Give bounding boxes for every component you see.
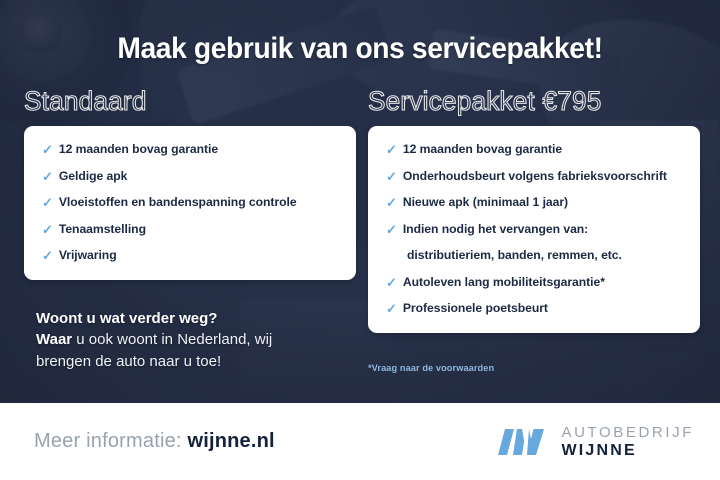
list-item: ✓ Vrijwaring	[42, 248, 338, 264]
promo-line-3: brengen de auto naar u toe!	[36, 351, 356, 372]
list-item: ✓ Onderhoudsbeurt volgens fabrieksvoorsc…	[386, 169, 682, 185]
feature-label: Onderhoudsbeurt volgens fabrieksvoorschr…	[403, 169, 667, 184]
feature-label: Professionele poetsbeurt	[403, 301, 548, 316]
list-item: ✓ Indien nodig het vervangen van:	[386, 222, 682, 238]
hero-section: Maak gebruik van ons servicepakket! Stan…	[0, 0, 720, 403]
page-title: Maak gebruik van ons servicepakket!	[22, 32, 699, 66]
logo-line-autobedrijf: AUTOBEDRIJF	[561, 425, 694, 440]
check-icon: ✓	[42, 222, 53, 238]
check-icon: ✓	[42, 142, 53, 158]
check-icon: ✓	[42, 248, 53, 264]
check-icon: ✓	[386, 142, 397, 158]
delivery-promo-text: Woont u wat verder weg? Waar u ook woont…	[36, 308, 356, 372]
list-item: ✓ 12 maanden bovag garantie	[42, 142, 338, 158]
more-info-text: Meer informatie: wijnne.nl	[34, 430, 275, 453]
list-item: ✓ Professionele poetsbeurt	[386, 301, 682, 317]
list-item: ✓ 12 maanden bovag garantie	[386, 142, 682, 158]
promo-line-2: Waar u ook woont in Nederland, wij	[36, 329, 356, 350]
promo-line-2-bold: Waar	[36, 331, 72, 348]
feature-list-standaard: ✓ 12 maanden bovag garantie ✓ Geldige ap…	[42, 142, 338, 264]
check-icon: ✓	[386, 301, 397, 317]
logo-line-wijnne: WIJNNE	[561, 443, 694, 459]
footer-bar: Meer informatie: wijnne.nl AUTOBEDRIJF W…	[0, 403, 720, 480]
column-servicepakket: Servicepakket €795 ✓ 12 maanden bovag ga…	[368, 86, 700, 333]
check-icon: ✓	[386, 169, 397, 185]
check-icon: ✓	[386, 222, 397, 238]
feature-card-standaard: ✓ 12 maanden bovag garantie ✓ Geldige ap…	[24, 126, 356, 280]
promo-line-1: Woont u wat verder weg?	[36, 308, 356, 329]
feature-label: Vloeistoffen en bandenspanning controle	[59, 195, 297, 210]
list-item: ✓ Tenaamstelling	[42, 222, 338, 238]
column-title-standaard: Standaard	[24, 86, 346, 117]
feature-label: Geldige apk	[59, 169, 128, 184]
promo-line-2-rest: u ook woont in Nederland, wij	[72, 331, 272, 348]
company-logo[interactable]: AUTOBEDRIJF WIJNNE	[498, 425, 694, 459]
footnote-conditions: *Vraag naar de voorwaarden	[368, 363, 494, 373]
list-item: ✓ Autoleven lang mobiliteitsgarantie*	[386, 275, 682, 291]
feature-label: Vrijwaring	[59, 248, 117, 263]
feature-list-servicepakket: ✓ 12 maanden bovag garantie ✓ Onderhouds…	[386, 142, 682, 317]
check-icon: ✓	[42, 195, 53, 211]
feature-card-servicepakket: ✓ 12 maanden bovag garantie ✓ Onderhouds…	[368, 126, 700, 333]
list-item: ✓ Vloeistoffen en bandenspanning control…	[42, 195, 338, 211]
wijnne-w-mark-icon	[498, 427, 550, 457]
check-icon: ✓	[42, 169, 53, 185]
check-icon: ✓	[386, 275, 397, 291]
feature-label: Tenaamstelling	[59, 222, 146, 237]
list-item: ✓ Geldige apk	[42, 169, 338, 185]
feature-label: 12 maanden bovag garantie	[59, 142, 218, 157]
service-package-poster: Maak gebruik van ons servicepakket! Stan…	[0, 0, 720, 480]
column-title-servicepakket: Servicepakket €795	[368, 86, 690, 117]
logo-wordmark: AUTOBEDRIJF WIJNNE	[561, 425, 694, 459]
feature-label: 12 maanden bovag garantie	[403, 142, 562, 157]
list-item-continuation: distributieriem, banden, remmen, etc.	[386, 248, 682, 263]
feature-continuation-label: distributieriem, banden, remmen, etc.	[407, 248, 682, 263]
website-link[interactable]: wijnne.nl	[187, 430, 274, 452]
check-icon: ✓	[386, 195, 397, 211]
column-standaard: Standaard ✓ 12 maanden bovag garantie ✓ …	[24, 86, 356, 280]
feature-label: Indien nodig het vervangen van:	[403, 222, 588, 237]
more-info-label: Meer informatie:	[34, 430, 187, 452]
list-item: ✓ Nieuwe apk (minimaal 1 jaar)	[386, 195, 682, 211]
feature-label: Nieuwe apk (minimaal 1 jaar)	[403, 195, 568, 210]
feature-label: Autoleven lang mobiliteitsgarantie*	[403, 275, 605, 290]
